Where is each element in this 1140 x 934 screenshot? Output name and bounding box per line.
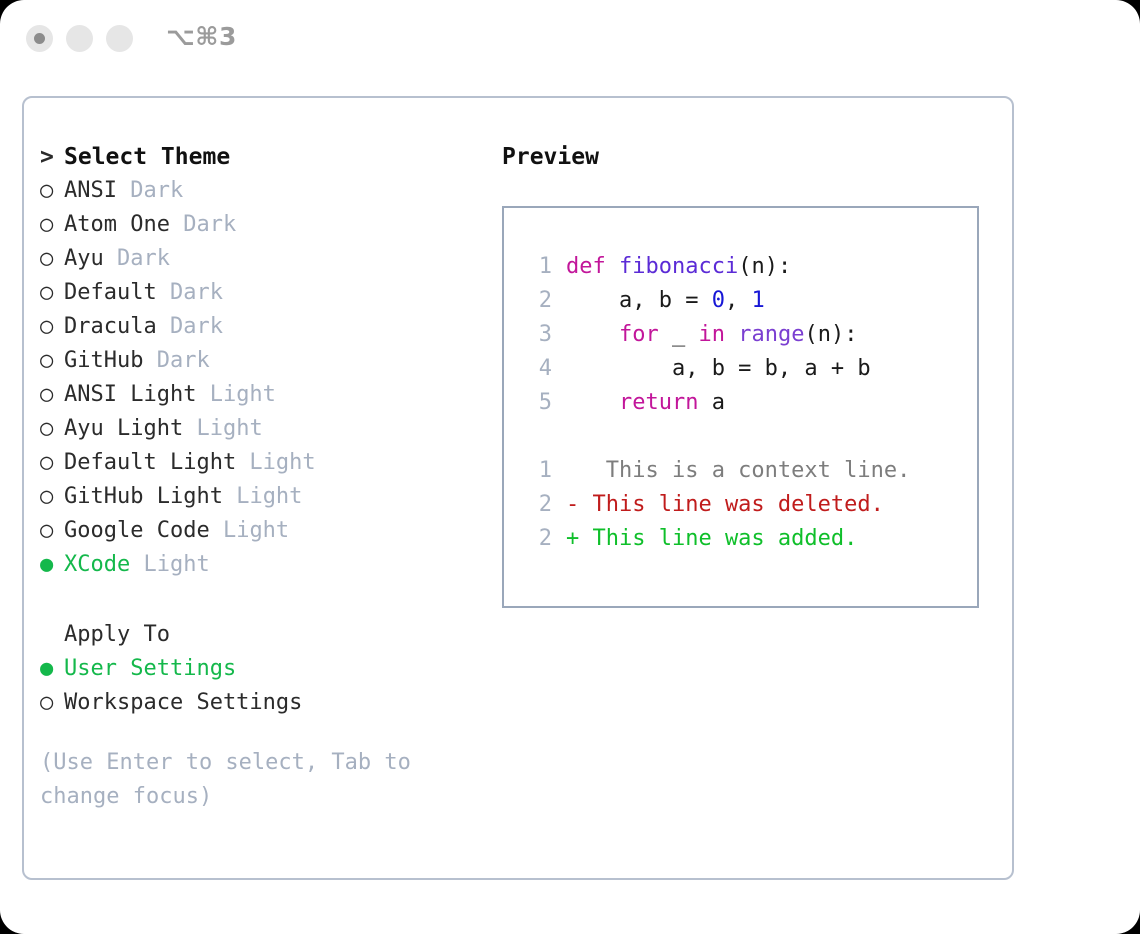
- theme-option-default[interactable]: ○Default Dark: [40, 276, 480, 310]
- theme-option-kind: Dark: [170, 212, 236, 237]
- theme-option-kind: Dark: [157, 280, 223, 305]
- theme-option-name: GitHub: [64, 348, 143, 373]
- radio-unselected-icon: ○: [40, 276, 64, 310]
- code-token: return: [619, 390, 698, 415]
- theme-option-kind: Light: [223, 484, 302, 509]
- theme-option-name: Ayu: [64, 246, 104, 271]
- theme-option-ayu[interactable]: ○Ayu Dark: [40, 242, 480, 276]
- theme-option-dracula[interactable]: ○Dracula Dark: [40, 310, 480, 344]
- window-dot-3[interactable]: [106, 25, 133, 52]
- theme-option-google-code[interactable]: ○Google Code Light: [40, 514, 480, 548]
- line-number: 1: [522, 250, 552, 284]
- window-dot-inner: [34, 33, 45, 44]
- code-token: ,: [725, 288, 752, 313]
- radio-unselected-icon: ○: [40, 208, 64, 242]
- diff-line-ctx: 1 This is a context line.: [522, 454, 977, 488]
- window-dot-2[interactable]: [66, 25, 93, 52]
- diff-line-text: + This line was added.: [566, 526, 857, 551]
- keyboard-shortcut-label: ⌥⌘3: [166, 22, 237, 51]
- diff-line-add: 2+ This line was added.: [522, 522, 977, 556]
- code-token: a, b = b, a + b: [566, 356, 871, 381]
- code-line: 4 a, b = b, a + b: [522, 352, 977, 386]
- theme-option-name: Default Light: [64, 450, 236, 475]
- theme-options-list: ○ANSI Dark○Atom One Dark○Ayu Dark○Defaul…: [40, 174, 480, 582]
- apply-to-options-list: ●User Settings○Workspace Settings: [40, 652, 480, 720]
- apply-to-option-workspace-settings[interactable]: ○Workspace Settings: [40, 686, 480, 720]
- code-token: range: [738, 322, 804, 347]
- diff-line-text: This is a context line.: [566, 458, 910, 483]
- code-token: [725, 322, 738, 347]
- radio-selected-icon: ●: [40, 548, 64, 582]
- code-token: (n):: [804, 322, 857, 347]
- select-theme-heading: >Select Theme: [40, 140, 480, 174]
- code-sample: 1def fibonacci(n):2 a, b = 0, 13 for _ i…: [522, 250, 977, 420]
- theme-option-name: XCode: [64, 552, 130, 577]
- code-token: for: [619, 322, 659, 347]
- prompt-caret-icon: >: [40, 140, 64, 174]
- radio-unselected-icon: ○: [40, 242, 64, 276]
- line-number: 1: [522, 454, 552, 488]
- line-number: 4: [522, 352, 552, 386]
- apply-to-option-user-settings[interactable]: ●User Settings: [40, 652, 480, 686]
- keyboard-hint-text: (Use Enter to select, Tab to change focu…: [40, 746, 460, 814]
- apply-to-heading: ○Apply To: [40, 618, 480, 652]
- title-bar: ⌥⌘3: [0, 0, 1140, 78]
- theme-option-name: ANSI Light: [64, 382, 196, 407]
- apply-to-marker-spacer: ○: [40, 618, 64, 652]
- code-line: 2 a, b = 0, 1: [522, 284, 977, 318]
- code-token: 0: [712, 288, 725, 313]
- radio-unselected-icon: ○: [40, 412, 64, 446]
- theme-option-github-light[interactable]: ○GitHub Light Light: [40, 480, 480, 514]
- theme-option-name: GitHub Light: [64, 484, 223, 509]
- code-token: in: [698, 322, 725, 347]
- theme-option-github[interactable]: ○GitHub Dark: [40, 344, 480, 378]
- code-token: [606, 254, 619, 279]
- theme-option-kind: Light: [196, 382, 275, 407]
- theme-option-kind: Dark: [117, 178, 183, 203]
- app-window: ⌥⌘3 >Select Theme ○ANSI Dark○Atom One Da…: [0, 0, 1140, 934]
- preview-heading: Preview: [502, 140, 992, 174]
- theme-list-column: >Select Theme ○ANSI Dark○Atom One Dark○A…: [40, 140, 480, 814]
- line-number: 2: [522, 522, 552, 556]
- line-number: 5: [522, 386, 552, 420]
- code-token: [566, 390, 619, 415]
- radio-unselected-icon: ○: [40, 344, 64, 378]
- theme-option-ayu-light[interactable]: ○Ayu Light Light: [40, 412, 480, 446]
- theme-option-name: Default: [64, 280, 157, 305]
- apply-to-option-label: Workspace Settings: [64, 690, 302, 715]
- select-theme-heading-label: Select Theme: [64, 144, 230, 170]
- code-token: fibonacci: [619, 254, 738, 279]
- line-number: 2: [522, 284, 552, 318]
- code-token: a, b =: [566, 288, 712, 313]
- code-token: _: [659, 322, 699, 347]
- theme-option-atom-one[interactable]: ○Atom One Dark: [40, 208, 480, 242]
- theme-option-ansi[interactable]: ○ANSI Dark: [40, 174, 480, 208]
- radio-unselected-icon: ○: [40, 514, 64, 548]
- code-token: [566, 322, 619, 347]
- theme-option-kind: Dark: [143, 348, 209, 373]
- code-token: a: [698, 390, 725, 415]
- theme-option-kind: Light: [210, 518, 289, 543]
- theme-option-kind: Dark: [104, 246, 170, 271]
- radio-unselected-icon: ○: [40, 480, 64, 514]
- diff-line-text: - This line was deleted.: [566, 492, 884, 517]
- radio-unselected-icon: ○: [40, 446, 64, 480]
- line-number: 2: [522, 488, 552, 522]
- theme-option-kind: Light: [130, 552, 209, 577]
- theme-option-kind: Dark: [157, 314, 223, 339]
- theme-option-name: Google Code: [64, 518, 210, 543]
- code-token: (n):: [738, 254, 791, 279]
- diff-sample: 1 This is a context line.2- This line wa…: [522, 454, 977, 556]
- theme-option-name: Atom One: [64, 212, 170, 237]
- theme-picker-panel: >Select Theme ○ANSI Dark○Atom One Dark○A…: [22, 96, 1014, 880]
- code-line: 1def fibonacci(n):: [522, 250, 977, 284]
- theme-option-xcode[interactable]: ●XCode Light: [40, 548, 480, 582]
- apply-to-heading-label: Apply To: [64, 622, 170, 647]
- apply-to-option-label: User Settings: [64, 656, 236, 681]
- code-token: def: [566, 254, 606, 279]
- diff-line-del: 2- This line was deleted.: [522, 488, 977, 522]
- radio-unselected-icon: ○: [40, 686, 64, 720]
- code-line: 5 return a: [522, 386, 977, 420]
- radio-selected-icon: ●: [40, 652, 64, 686]
- radio-unselected-icon: ○: [40, 310, 64, 344]
- theme-option-default-light[interactable]: ○Default Light Light: [40, 446, 480, 480]
- theme-option-name: ANSI: [64, 178, 117, 203]
- theme-option-kind: Light: [236, 450, 315, 475]
- code-line: 3 for _ in range(n):: [522, 318, 977, 352]
- radio-unselected-icon: ○: [40, 378, 64, 412]
- radio-unselected-icon: ○: [40, 174, 64, 208]
- code-token: 1: [751, 288, 764, 313]
- window-dot-active[interactable]: [26, 25, 53, 52]
- theme-option-kind: Light: [183, 416, 262, 441]
- code-diff-spacer: [522, 420, 977, 454]
- theme-option-name: Ayu Light: [64, 416, 183, 441]
- preview-column: Preview 1def fibonacci(n):2 a, b = 0, 13…: [502, 140, 992, 608]
- theme-option-ansi-light[interactable]: ○ANSI Light Light: [40, 378, 480, 412]
- theme-option-name: Dracula: [64, 314, 157, 339]
- line-number: 3: [522, 318, 552, 352]
- preview-box: 1def fibonacci(n):2 a, b = 0, 13 for _ i…: [502, 206, 979, 608]
